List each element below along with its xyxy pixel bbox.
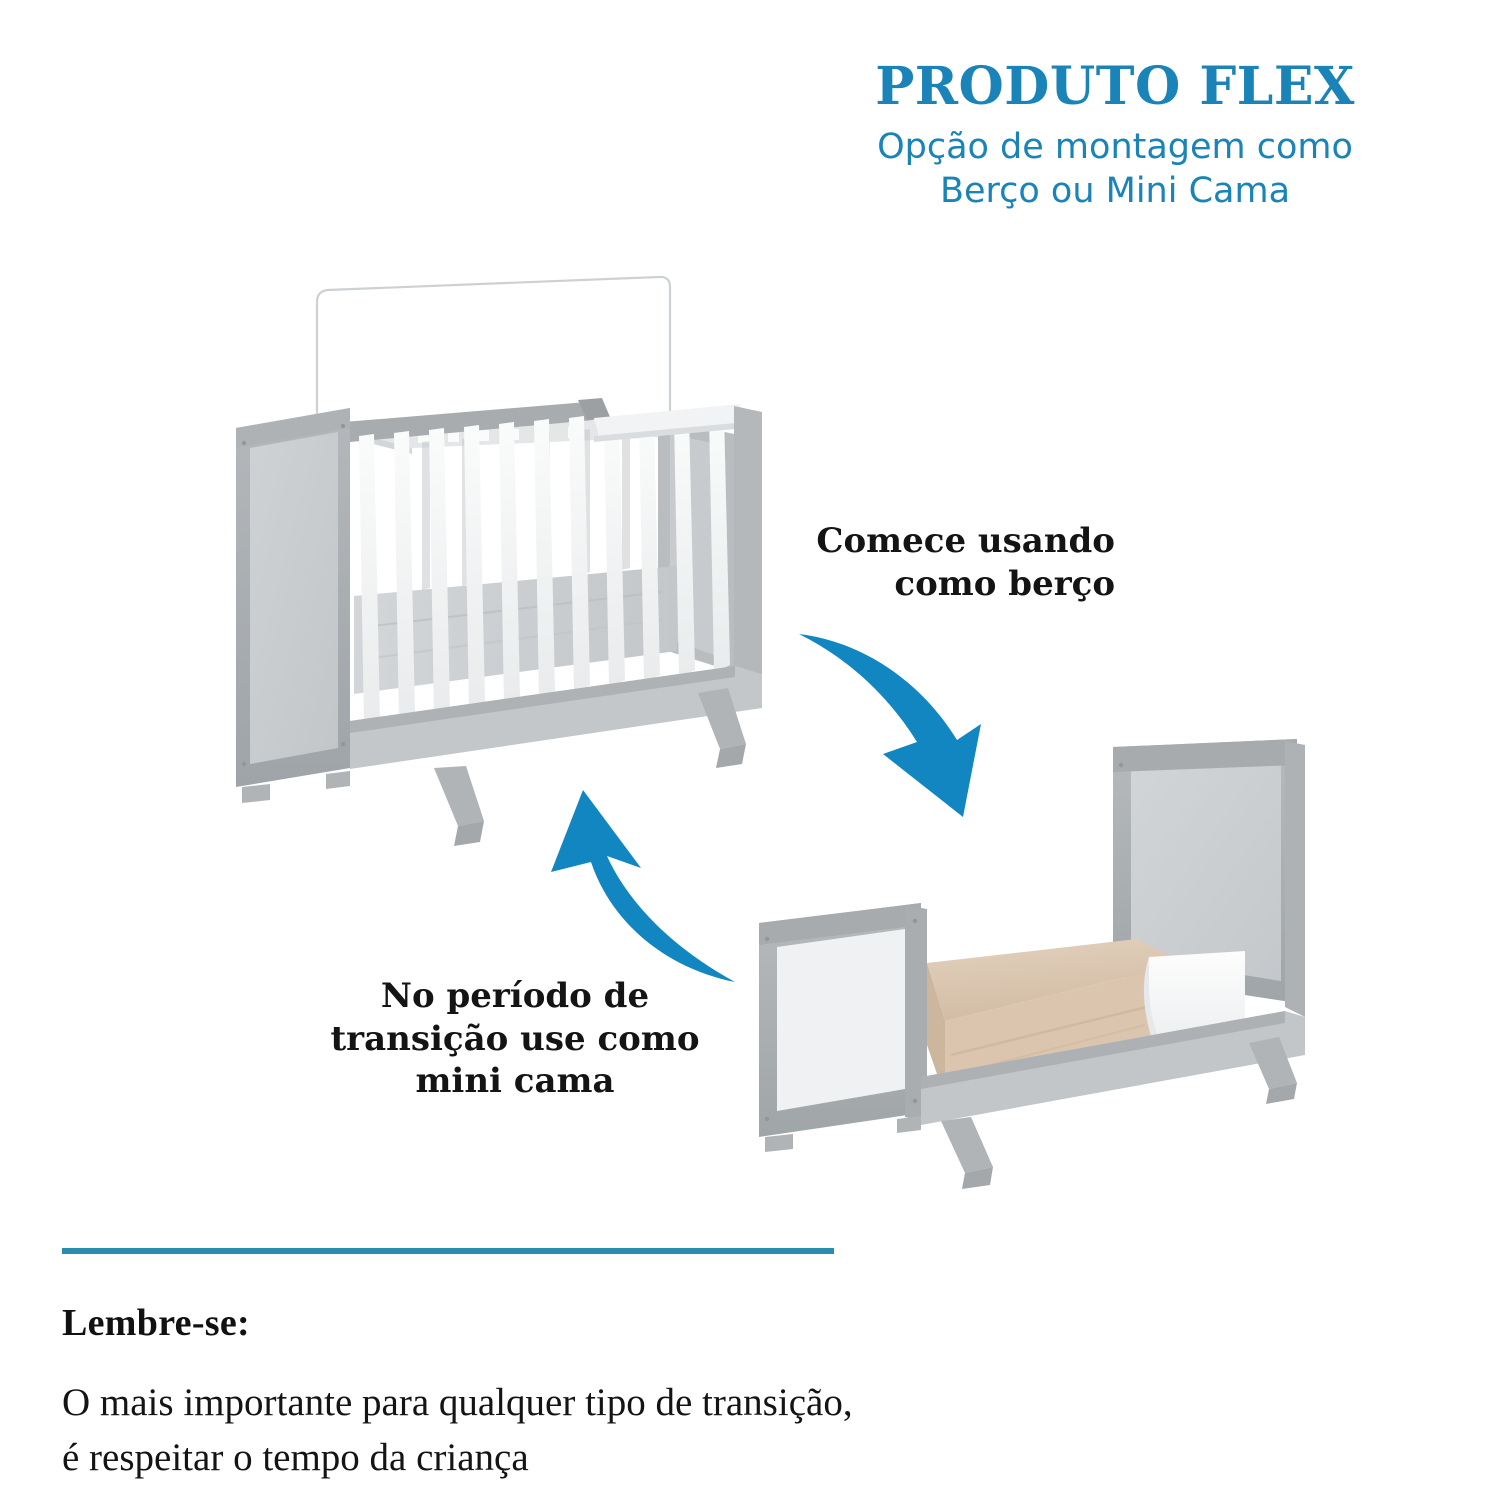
arrow-bed-to-crib bbox=[525, 772, 740, 1002]
callout-crib-line-1: Comece usando bbox=[745, 520, 1115, 563]
footer-body: O mais importante para qualquer tipo de … bbox=[62, 1375, 1442, 1486]
callout-start-as-crib: Comece usando como berço bbox=[745, 520, 1115, 605]
crib-back-panel bbox=[317, 277, 670, 432]
header-subtitle: Opção de montagem como Berço ou Mini Cam… bbox=[805, 125, 1425, 215]
page-title: PRODUTO FLEX bbox=[805, 60, 1425, 115]
crib-far-slats bbox=[422, 426, 630, 590]
callout-bed-line-3: mini cama bbox=[305, 1060, 725, 1103]
infographic-page: PRODUTO FLEX Opção de montagem como Berç… bbox=[0, 0, 1500, 1500]
curved-up-arrow-icon bbox=[525, 772, 740, 1002]
footer-body-line-2: é respeitar o tempo da criança bbox=[62, 1430, 1442, 1485]
crib-head-panel bbox=[236, 408, 350, 787]
crib-svg bbox=[222, 196, 802, 836]
callout-bed-line-1: No período de bbox=[305, 975, 725, 1018]
footer-block: Lembre-se: O mais importante para qualqu… bbox=[62, 1248, 1442, 1486]
callout-crib-line-2: como berço bbox=[745, 563, 1115, 606]
mini-bed-svg bbox=[745, 725, 1325, 1175]
callout-transition-mini-bed: No período de transição use como mini ca… bbox=[305, 975, 725, 1103]
crib-illustration bbox=[222, 196, 802, 836]
bed-footboard bbox=[759, 903, 927, 1137]
footer-divider bbox=[62, 1248, 834, 1254]
header-subtitle-line-2: Berço ou Mini Cama bbox=[805, 169, 1425, 214]
callout-bed-line-2: transição use como bbox=[305, 1018, 725, 1061]
header-block: PRODUTO FLEX Opção de montagem como Berç… bbox=[805, 60, 1425, 214]
mini-bed-illustration bbox=[745, 725, 1325, 1175]
footer-heading: Lembre-se: bbox=[62, 1301, 1442, 1345]
header-subtitle-line-1: Opção de montagem como bbox=[805, 125, 1425, 170]
footer-body-line-1: O mais importante para qualquer tipo de … bbox=[62, 1375, 1442, 1430]
